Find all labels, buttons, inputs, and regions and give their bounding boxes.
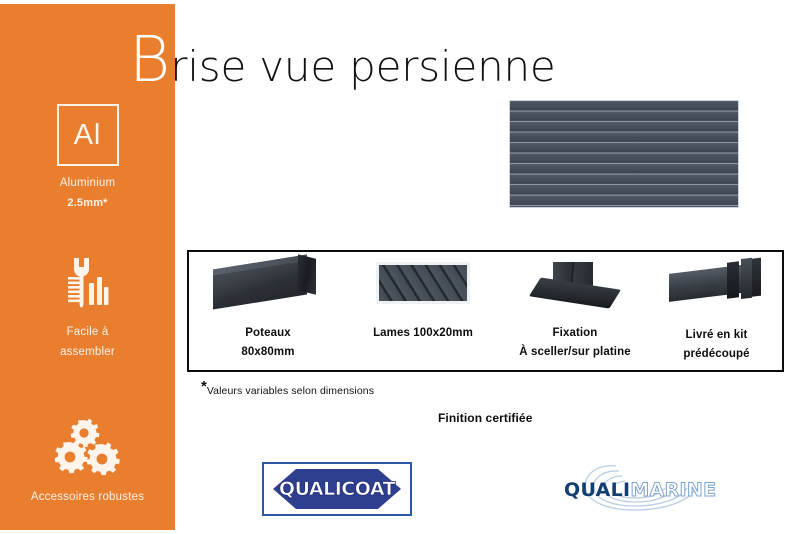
product-item-fixation: Fixation À sceller/sur platine — [499, 252, 651, 370]
qualimarine-text-light: MARINE — [630, 479, 716, 501]
product-caption-secondary: 80x80mm — [189, 343, 347, 362]
base-plate-fixing-image — [529, 262, 621, 308]
sidebar-feature-assembly-sublabel: assembler — [0, 342, 175, 362]
sidebar-feature-aluminium-label: Aluminium — [0, 173, 175, 193]
aluminium-badge-icon: Al — [57, 104, 119, 166]
sidebar-feature-accessories-label: Accessoires robustes — [0, 487, 175, 507]
sidebar-feature-assembly: Facile à assembler — [0, 256, 175, 362]
sidebar-feature-assembly-label: Facile à — [0, 322, 175, 342]
product-caption: Livré en kit — [651, 326, 782, 345]
aluminium-badge-label: Al — [74, 121, 102, 150]
product-caption-secondary: À sceller/sur platine — [499, 343, 651, 362]
post-profile-image — [213, 262, 323, 302]
product-item-kit: Livré en kit prédécoupé — [651, 252, 782, 370]
certification-heading: Finition certifiée — [438, 411, 532, 425]
footnote-text: Valeurs variables selon dimensions — [207, 385, 374, 397]
product-item-poteaux: Poteaux 80x80mm — [189, 252, 347, 370]
product-caption-secondary: prédécoupé — [651, 345, 782, 364]
qualimarine-logo: QUALIMARINE — [556, 462, 721, 516]
gears-icon — [0, 419, 175, 481]
slats-image — [376, 262, 470, 304]
qualicoat-logo-text: QUALICOAT — [279, 478, 395, 500]
qualicoat-logo: QUALICOAT — [262, 462, 412, 516]
footnote: *Valeurs variables selon dimensions — [201, 381, 374, 399]
qualimarine-text-dark: QUALI — [564, 479, 630, 501]
qualimarine-logo-text: QUALIMARINE — [564, 479, 716, 501]
product-item-lames: Lames 100x20mm — [347, 252, 499, 370]
product-caption: Lames 100x20mm — [347, 324, 499, 343]
sidebar-feature-accessories: Accessoires robustes — [0, 419, 175, 507]
sidebar-feature-aluminium: Al Aluminium 2.5mm* — [0, 104, 175, 213]
louvre-panel-image — [510, 101, 738, 207]
product-caption: Poteaux — [189, 324, 347, 343]
product-caption: Fixation — [499, 324, 651, 343]
products-box: Poteaux 80x80mm Lames 100x20mm Fixation … — [187, 250, 784, 372]
sidebar-feature-aluminium-sublabel: 2.5mm* — [0, 193, 175, 213]
page-title-rest: rise vue persienne — [170, 46, 555, 88]
slide-canvas: Al Aluminium 2.5mm* — [0, 0, 800, 534]
page-title: B rise vue persienne — [129, 28, 556, 90]
kit-profiles-image — [669, 262, 765, 306]
wrench-screwdriver-icon — [0, 256, 175, 316]
page-title-initial: B — [129, 28, 169, 91]
